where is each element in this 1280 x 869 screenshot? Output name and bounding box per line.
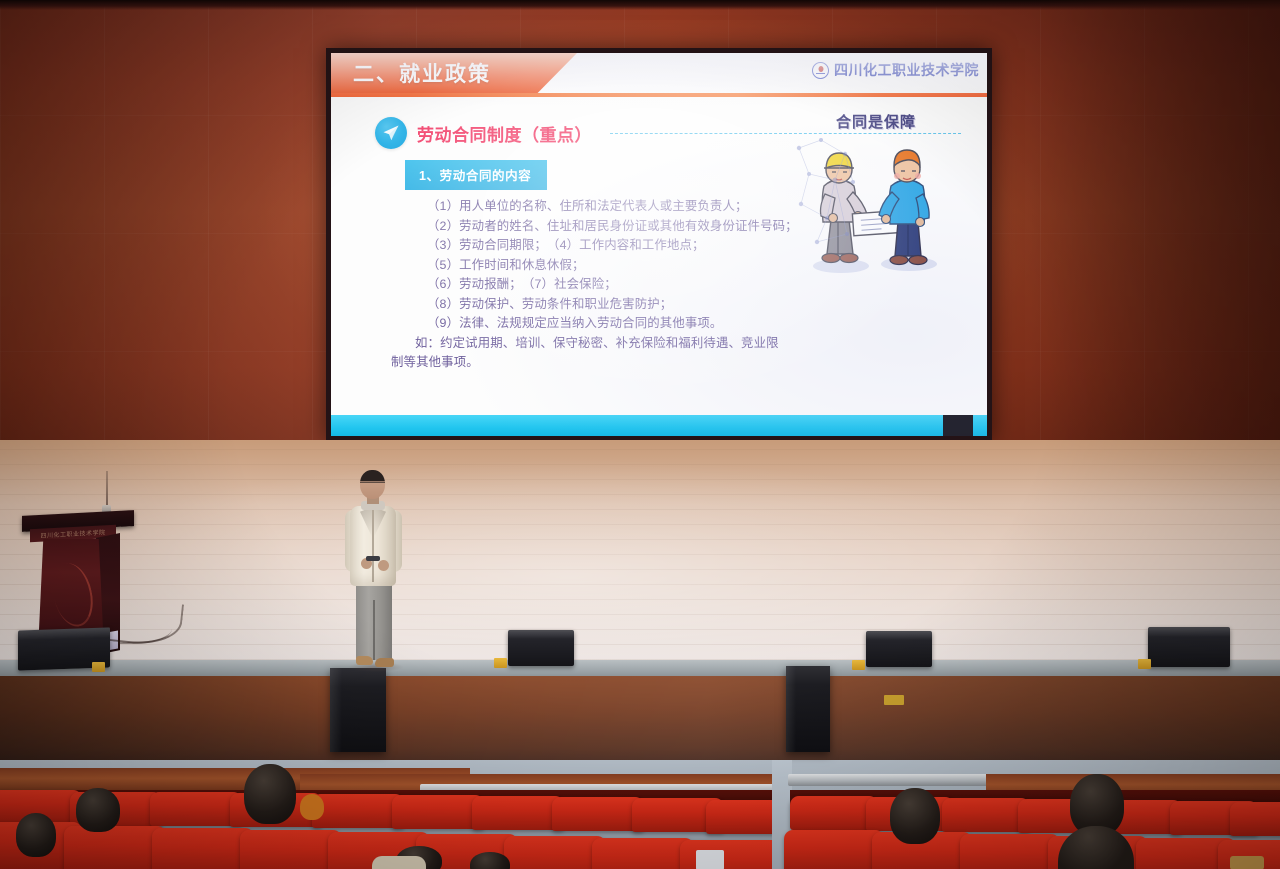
seat xyxy=(392,795,484,829)
illustration-title: 合同是保障 xyxy=(783,111,969,132)
presenter xyxy=(334,470,412,675)
presenter-shoe-left xyxy=(356,656,373,665)
audience-member xyxy=(470,852,510,869)
audience-member xyxy=(76,788,120,832)
seat xyxy=(152,828,254,869)
aisle-step-light xyxy=(696,850,724,869)
auditorium-scene: 二、就业政策 四川化工职业技术学院 劳动合同制 xyxy=(0,0,1280,869)
presenter-hand-right xyxy=(378,560,389,571)
audience-member xyxy=(890,788,940,844)
list-item: （8）劳动保护、劳动条件和职业危害防护； xyxy=(331,295,731,315)
presenter-leg-seam xyxy=(373,600,375,660)
seat-item xyxy=(1230,856,1264,869)
seat xyxy=(504,836,606,869)
two-workers-contract-handover-illustration xyxy=(783,132,969,280)
list-item: （1）用人单位的名称、住所和法定代表人或主要负责人； xyxy=(331,197,731,217)
stage-floor-plate xyxy=(884,695,904,705)
slide-header: 二、就业政策 四川化工职业技术学院 xyxy=(331,53,987,97)
stage-monitor-speaker xyxy=(1148,627,1230,667)
list-item: （5）工作时间和休息休假； xyxy=(331,256,731,276)
presenter-shoe-right xyxy=(375,658,394,667)
audience-member xyxy=(244,764,296,824)
slide-footer-bar xyxy=(331,415,987,436)
school-emblem-icon xyxy=(812,62,829,79)
presenter-zipper xyxy=(372,508,374,582)
seat xyxy=(312,794,404,828)
presenter-clicker xyxy=(366,556,380,561)
seating-section-left xyxy=(0,760,772,869)
subsection-badge: 1、劳动合同的内容 xyxy=(405,160,547,190)
footer-notch xyxy=(943,415,973,436)
network-dots-pattern xyxy=(791,134,857,252)
slide-illustration: 合同是保障 xyxy=(783,111,969,291)
speaker-plug xyxy=(92,662,105,672)
seat xyxy=(64,826,166,869)
seat xyxy=(240,830,342,869)
subwoofer-speaker xyxy=(330,668,386,752)
slide-section-label: 二、就业政策 xyxy=(353,58,491,88)
audience-member-shoulders xyxy=(372,856,426,869)
seat xyxy=(790,796,878,830)
list-item: （3）劳动合同期限； （4）工作内容和工作地点； xyxy=(331,236,731,256)
projection-screen: 二、就业政策 四川化工职业技术学院 劳动合同制 xyxy=(326,48,992,441)
seat xyxy=(150,792,242,826)
seating-section-right xyxy=(790,760,1280,869)
podium-label: 四川化工职业技术学院 xyxy=(40,527,105,539)
seat xyxy=(960,834,1060,869)
paper-plane-icon xyxy=(375,117,407,149)
slide-section-banner: 二、就业政策 xyxy=(331,53,577,93)
list-item: （9）法律、法规规定应当纳入劳动合同的其他事项。 xyxy=(331,314,731,334)
note-line-1: 如：约定试用期、培训、保守秘密、补充保险和福利待遇、竞业限 xyxy=(331,334,736,354)
wall-right-shading xyxy=(1030,0,1280,470)
seat xyxy=(472,796,564,830)
list-item: （6）劳动报酬； （7）社会保险； xyxy=(331,275,731,295)
stage-front-shading xyxy=(0,676,1280,772)
stage-monitor-speaker xyxy=(508,630,574,666)
seat xyxy=(784,830,884,869)
note-line-2: 制等其他事项。 xyxy=(331,353,736,373)
institution-logo: 四川化工职业技术学院 xyxy=(812,60,979,80)
audience-member xyxy=(16,813,56,857)
audience-seating xyxy=(0,760,1280,869)
list-item: （2）劳动者的姓名、住址和居民身份证或其他有效身份证件号码； xyxy=(331,217,731,237)
audience-member-hood xyxy=(300,794,324,820)
stage-light-glow xyxy=(120,455,1120,675)
seat xyxy=(1230,802,1280,836)
presentation-slide: 二、就业政策 四川化工职业技术学院 劳动合同制 xyxy=(331,53,987,436)
glasses-icon xyxy=(360,482,385,486)
section-title: 劳动合同制度（重点） xyxy=(417,121,592,146)
contract-items-list: （1）用人单位的名称、住所和法定代表人或主要负责人； （2）劳动者的姓名、住址和… xyxy=(331,197,731,334)
slide-body: 劳动合同制度（重点） 1、劳动合同的内容 （1）用人单位的名称、住所和法定代表人… xyxy=(331,97,987,415)
subwoofer-speaker xyxy=(786,666,830,752)
seat xyxy=(942,798,1030,832)
speaker-plug xyxy=(494,658,507,668)
seat xyxy=(552,797,644,831)
seat xyxy=(592,838,694,869)
speaker-plug xyxy=(1138,659,1151,669)
institution-name: 四川化工职业技术学院 xyxy=(834,60,979,80)
stage-monitor-speaker xyxy=(866,631,932,667)
speaker-plug xyxy=(852,660,865,670)
